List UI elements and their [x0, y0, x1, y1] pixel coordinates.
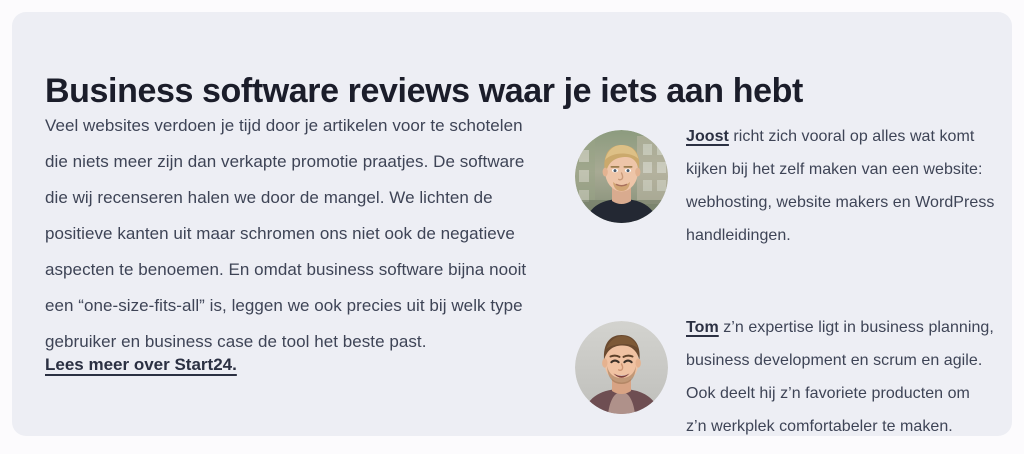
person-entry: Joost richt zich vooral op alles wat kom…: [575, 120, 995, 252]
person-name-link[interactable]: Joost: [686, 128, 729, 145]
person-bio-text: z’n expertise ligt in business planning,…: [686, 319, 994, 435]
person-entry: Tom z’n expertise ligt in business plann…: [575, 311, 995, 443]
page-root: Business software reviews waar je iets a…: [0, 0, 1024, 454]
person-bio-text: richt zich vooral op alles wat komt kijk…: [686, 128, 994, 244]
person-bio: Tom z’n expertise ligt in business plann…: [686, 311, 995, 443]
portrait-photo-joost-icon: [575, 130, 668, 223]
person-name-link[interactable]: Tom: [686, 319, 719, 336]
team-column: Joost richt zich vooral op alles wat kom…: [575, 120, 995, 443]
intro-column: Veel websites verdoen je tijd door je ar…: [45, 108, 547, 360]
about-card: Business software reviews waar je iets a…: [12, 12, 1012, 436]
read-more-link[interactable]: Lees meer over Start24.: [45, 352, 237, 378]
portrait-photo-tom-icon: [575, 321, 668, 414]
person-bio: Joost richt zich vooral op alles wat kom…: [686, 120, 995, 252]
intro-paragraph: Veel websites verdoen je tijd door je ar…: [45, 108, 547, 360]
page-title: Business software reviews waar je iets a…: [45, 69, 945, 113]
